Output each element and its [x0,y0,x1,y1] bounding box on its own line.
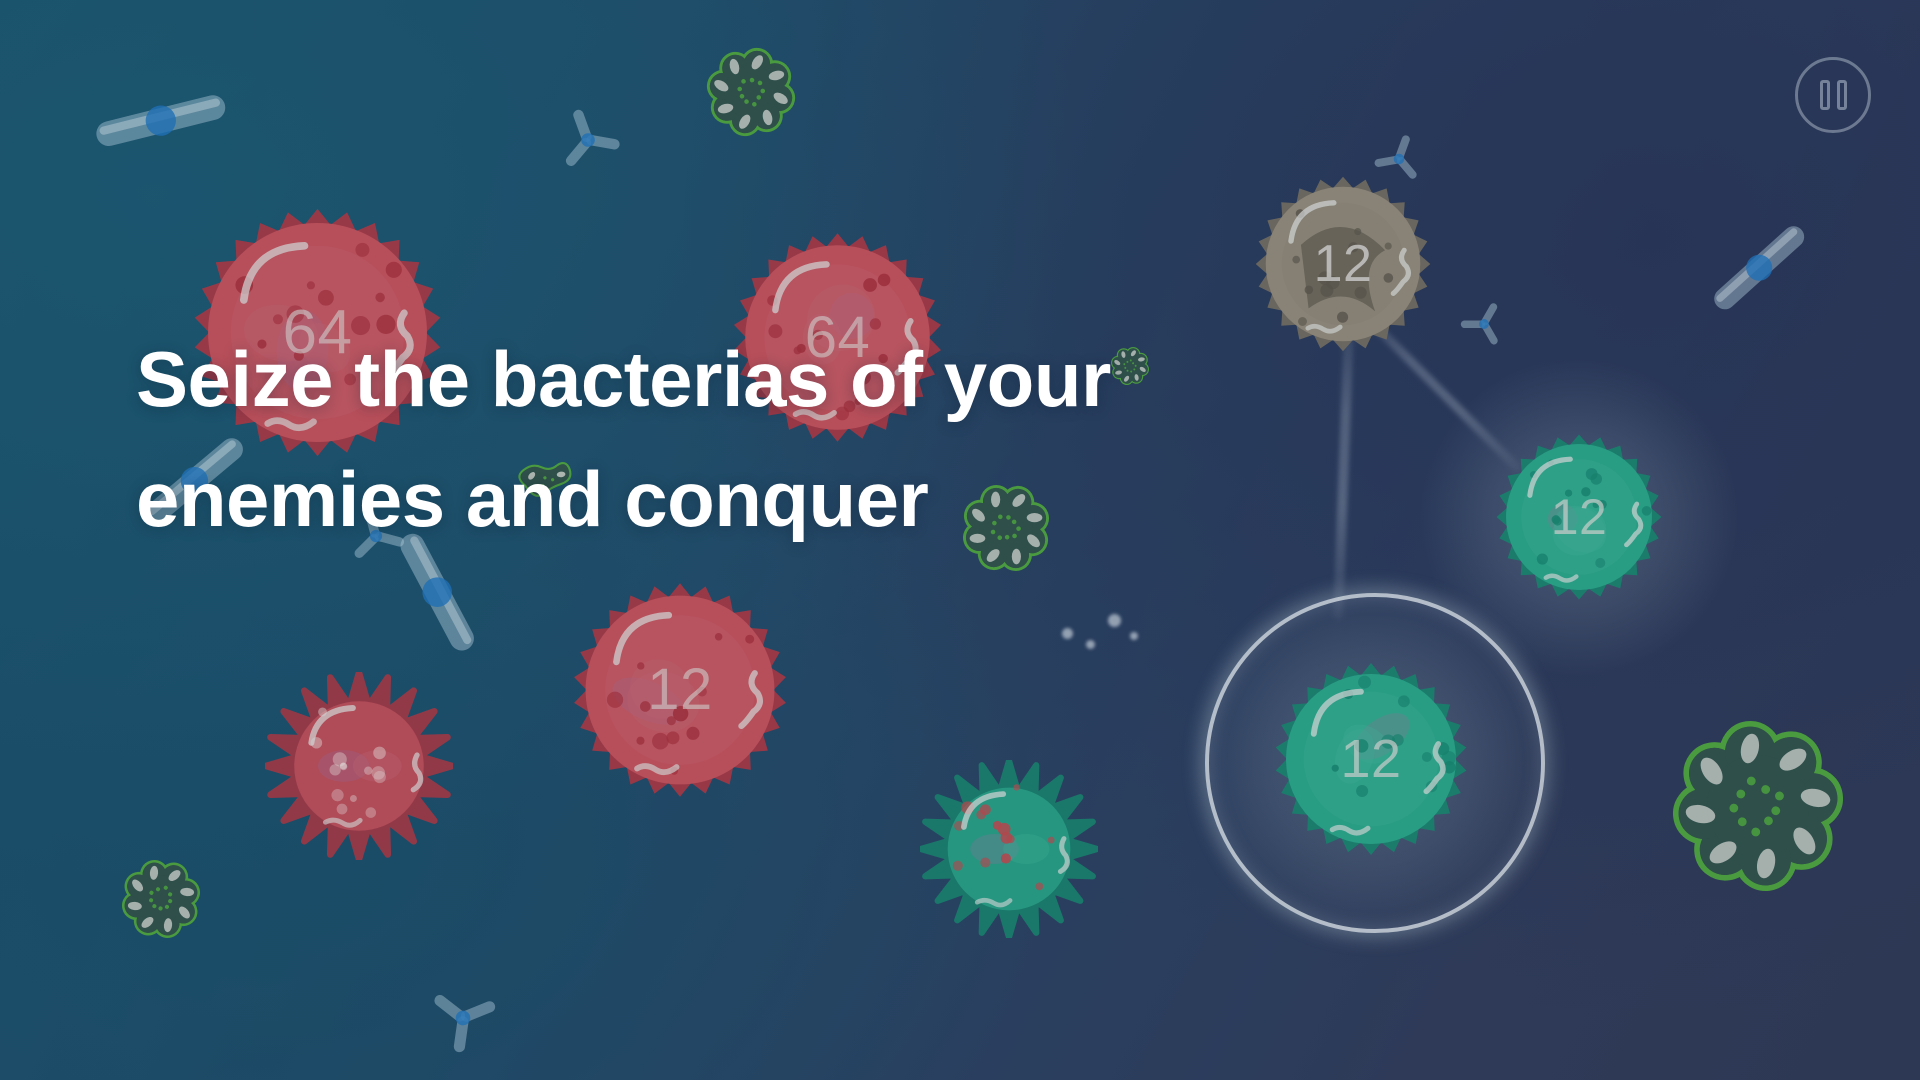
game-screen: 646412121212 Seize the bacterias of your… [0,0,1920,1080]
cell-value-label: 12 [1314,238,1373,290]
headline-block: Seize the bacterias of your enemies and … [136,340,1496,538]
cell-value-label: 12 [1551,492,1608,542]
pause-icon-bar-right [1837,80,1847,110]
cell-value-label: 12 [647,661,713,719]
bacteria-cell-teal-12[interactable]: 12 [1272,660,1470,858]
headline-line-1: Seize the bacterias of your [136,340,1496,418]
pause-icon-bar-left [1820,80,1830,110]
bacteria-cell-teal-12[interactable]: 12 [1494,432,1664,602]
pause-button[interactable] [1795,57,1871,133]
cell-selection-ring [1205,593,1546,934]
bacteria-cell-neutral-12[interactable]: 12 [1253,174,1433,354]
headline-line-2: enemies and conquer [136,460,1496,538]
bacteria-cell-red-12[interactable]: 12 [570,580,790,800]
